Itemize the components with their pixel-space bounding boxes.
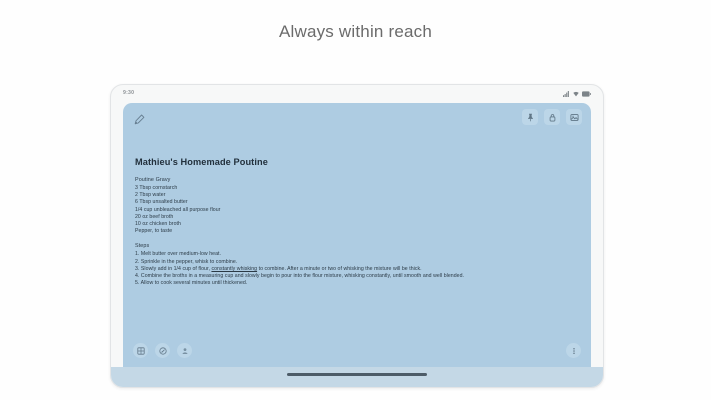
pin-icon [526,113,535,122]
share-image-icon [570,113,579,122]
pen-circle-icon [159,347,167,355]
ingredient-line: 6 Tbsp unsalted butter [135,199,579,206]
device-bottom-area [111,367,603,387]
note-toolbar-left [133,343,192,358]
note-card: Mathieu's Homemade Poutine Poutine Gravy… [123,103,591,367]
ingredient-line: 10 oz chicken broth [135,221,579,228]
grid-button[interactable] [133,343,148,358]
note-title: Mathieu's Homemade Poutine [135,157,268,167]
section-spacer [135,235,579,243]
ingredient-line: 2 Tbsp water [135,192,579,199]
section-heading-steps: Steps [135,243,579,249]
lock-button[interactable] [544,109,560,125]
page-headline: Always within reach [0,22,711,42]
step-line: 1. Melt butter over medium-low heat. [135,251,579,258]
wifi-icon [573,84,579,102]
ingredient-line: 1/4 cup unbleached all purpose flour [135,207,579,214]
more-vertical-icon [570,347,578,355]
status-time: 9:30 [123,90,134,96]
step-line: 5. Allow to cook several minutes until t… [135,280,579,287]
grid-icon [137,347,145,355]
ingredient-line: 3 Tbsp cornstarch [135,185,579,192]
more-options-button[interactable] [566,343,581,358]
note-header [123,103,591,133]
note-action-buttons [522,109,582,125]
note-body: Poutine Gravy 3 Tbsp cornstarch 2 Tbsp w… [135,177,579,287]
pen-edit-icon[interactable] [134,112,145,123]
page-root: Always within reach 9:30 [0,0,711,400]
step-line: 2. Sprinkle in the pepper, whisk to comb… [135,259,579,266]
pin-button[interactable] [522,109,538,125]
note-toolbar-right [566,343,581,358]
home-indicator [287,373,427,376]
ingredient-line: Pepper, to taste [135,228,579,235]
note-toolbar [123,331,591,367]
step-line: 4. Combine the broths in a measuring cup… [135,273,579,280]
step-line-underlined: 3. Slowly add in 1/4 cup of flour, const… [135,266,579,273]
battery-icon [582,84,591,102]
status-icons [563,84,591,102]
ingredient-line: 20 oz beef broth [135,214,579,221]
draw-button[interactable] [155,343,170,358]
status-bar: 9:30 [111,85,603,101]
signal-icon [563,84,570,102]
tablet-device: 9:30 [110,84,604,388]
person-icon [181,347,189,355]
section-heading-ingredients: Poutine Gravy [135,177,579,183]
share-button[interactable] [566,109,582,125]
person-button[interactable] [177,343,192,358]
lock-icon [548,113,557,122]
